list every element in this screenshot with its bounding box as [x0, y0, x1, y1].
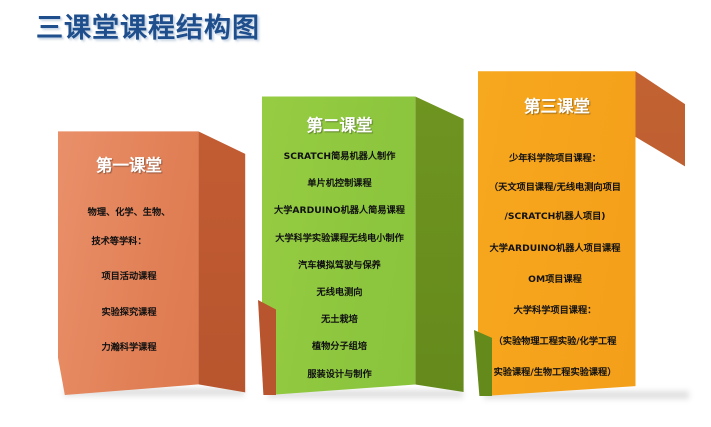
- block-3-line-7: （实验物理工程实验/化学工程: [472, 337, 638, 346]
- block-3-line-2: （天文项目课程/无线电测向项目: [472, 183, 638, 192]
- block-1-lines: 物理、化学、生物、 技术等学科： 项目活动课程 实验探究课程 力瀚科学课程: [58, 208, 200, 352]
- block-3-line-4: 大学ARDUINO机器人项目课程: [472, 244, 638, 253]
- block-2-line-4: 大学科学实验课程无线电小制作: [258, 234, 421, 243]
- block-1-line-5: 力瀚科学课程: [58, 343, 200, 352]
- block-3-header-wrap: 第三课堂: [478, 93, 636, 117]
- block-3-line-3: /SCRATCH机器人项目): [472, 212, 638, 221]
- block-2-line-7: 无土栽培: [258, 315, 421, 324]
- block-2-line-5: 汽车模拟驾驶与保养: [258, 261, 421, 270]
- block-3-header: 第三课堂: [478, 93, 636, 117]
- block-2-line-9: 服装设计与制作: [258, 370, 421, 379]
- block-2-line-6: 无线电测向: [258, 288, 421, 297]
- block-2-header-wrap: 第二课堂: [262, 112, 417, 136]
- diagram-canvas: 三课堂课程结构图 第一课堂 物理、化学、生物、 技术等学科： 项目活动课程 实验…: [0, 0, 711, 427]
- block-1-line-2: 技术等学科：: [38, 237, 200, 246]
- page-title: 三课堂课程结构图: [36, 6, 260, 45]
- block-1-header: 第一课堂: [58, 152, 200, 176]
- block-3-line-5: OM项目课程: [472, 275, 638, 284]
- block-3-lines: 少年科学院项目课程： （天文项目课程/无线电测向项目 /SCRATCH机器人项目…: [472, 154, 638, 378]
- block-3-line-8: 实验课程/生物工程实验课程）: [472, 368, 638, 377]
- block-3-line-6: 大学科学项目课程：: [472, 306, 638, 315]
- block-2-line-1: SCRATCH简易机器人制作: [258, 152, 421, 161]
- block-2-line-3: 大学ARDUINO机器人简易课程: [258, 206, 421, 215]
- block-1-line-1: 物理、化学、生物、: [58, 208, 200, 217]
- block-2-lines: SCRATCH简易机器人制作 单片机控制课程 大学ARDUINO机器人简易课程 …: [258, 152, 421, 379]
- block-3-line-1: 少年科学院项目课程：: [472, 154, 638, 163]
- block-1-line-3: 项目活动课程: [58, 272, 200, 281]
- block-2-header: 第二课堂: [262, 112, 417, 136]
- block-2-line-2: 单片机控制课程: [258, 179, 421, 188]
- block-1-header-wrap: 第一课堂: [58, 152, 200, 176]
- block-2-line-8: 植物分子组培: [258, 342, 421, 351]
- block-1-line-4: 实验探究课程: [58, 308, 200, 317]
